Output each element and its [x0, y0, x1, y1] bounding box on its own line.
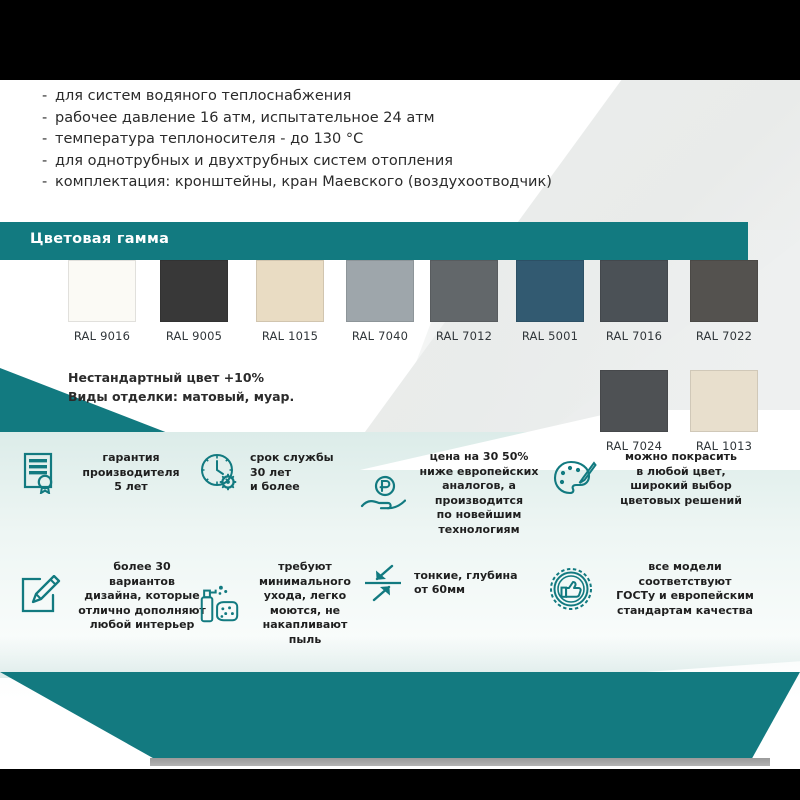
color-swatch-chip[interactable] [690, 260, 758, 322]
spec-item: - рабочее давление 16 атм, испытательное… [42, 108, 552, 130]
benefits-row-2: более 30вариантовдизайна, которыеотлично… [0, 560, 800, 670]
benefit-text-line: соответствуют [602, 575, 768, 590]
benefit-text: все моделисоответствуютГОСТу и европейск… [602, 560, 768, 618]
spec-item-text: рабочее давление 16 атм, испытательное 2… [55, 108, 435, 130]
section-header-colors: Цветовая гамма [0, 222, 748, 260]
benefit-item: цена на 30 50%ниже европейскиханалогов, … [360, 450, 544, 537]
benefit-text-line: более 30 [72, 560, 212, 575]
benefit-text-line: тонкие, глубина [414, 569, 534, 584]
color-swatch-chip[interactable] [68, 260, 136, 322]
bullet-dash: - [42, 151, 55, 173]
benefit-text-line: в любой цвет, [606, 465, 756, 480]
color-swatch-chip[interactable] [600, 260, 668, 322]
color-swatch-chip[interactable] [516, 260, 584, 322]
color-swatch[interactable]: RAL 7040 [346, 260, 414, 343]
benefit-text-line: гарантия [72, 451, 190, 466]
benefit-text-line: отлично дополняют [72, 604, 212, 619]
benefit-text-line: накапливают [250, 618, 360, 633]
benefit-item: требуютминимальногоухода, легкомоются, н… [196, 560, 360, 647]
poster-canvas: - для систем водяного теплоснабжения - р… [0, 0, 800, 800]
color-swatch-label: RAL 9016 [68, 329, 136, 343]
benefits-row-1: гарантияпроизводителя5 летсрок службы30 … [0, 450, 800, 560]
benefit-text-line: минимального [250, 575, 360, 590]
spec-item-text: для однотрубных и двухтрубных систем ото… [55, 151, 453, 173]
color-note-line1: Нестандартный цвет +10% [68, 368, 294, 387]
color-swatch[interactable]: RAL 7012 [430, 260, 498, 343]
color-swatch-chip[interactable] [430, 260, 498, 322]
decor-band-bottom [0, 672, 800, 762]
benefit-text: более 30вариантовдизайна, которыеотлично… [72, 560, 212, 633]
palette-icon [552, 456, 598, 502]
bullet-dash: - [42, 172, 55, 194]
spray-sponge-icon [196, 581, 242, 627]
spec-item: - для однотрубных и двухтрубных систем о… [42, 151, 552, 173]
benefit-text-line: производителя [72, 466, 190, 481]
benefit-text: цена на 30 50%ниже европейскиханалогов, … [414, 450, 544, 537]
color-swatch-chip[interactable] [256, 260, 324, 322]
color-swatch[interactable]: RAL 9016 [68, 260, 136, 343]
benefit-item: тонкие, глубинаот 60мм [360, 560, 534, 606]
benefit-text-line: все модели [602, 560, 768, 575]
spec-item-text: для систем водяного теплоснабжения [55, 86, 351, 108]
bullet-dash: - [42, 129, 55, 151]
color-swatch-chip[interactable] [690, 370, 758, 432]
bullet-dash: - [42, 108, 55, 130]
benefit-text-line: требуют [250, 560, 360, 575]
benefit-text-line: пыль [250, 633, 360, 648]
color-swatch-chip[interactable] [346, 260, 414, 322]
benefit-text: тонкие, глубинаот 60мм [414, 569, 534, 598]
color-swatch[interactable]: RAL 5001 [516, 260, 584, 343]
thin-depth-icon [360, 560, 406, 606]
section-title: Цветовая гамма [30, 231, 169, 247]
color-swatch[interactable]: RAL 9005 [160, 260, 228, 343]
spec-list: - для систем водяного теплоснабжения - р… [42, 86, 552, 194]
spec-item: - температура теплоносителя - до 130 °C [42, 129, 552, 151]
benefit-text-line: широкий выбор [606, 479, 756, 494]
benefit-text: гарантияпроизводителя5 лет [72, 451, 190, 495]
letterbox-bottom [0, 769, 800, 800]
color-swatch[interactable]: RAL 1015 [256, 260, 324, 343]
certificate-icon [18, 450, 64, 496]
color-swatch-label: RAL 7040 [346, 329, 414, 343]
benefit-item: более 30вариантовдизайна, которыеотлично… [18, 560, 212, 633]
color-swatch-chip[interactable] [600, 370, 668, 432]
benefit-text-line: срок службы [250, 451, 346, 466]
spec-item-text: температура теплоносителя - до 130 °C [55, 129, 363, 151]
benefit-text-line: моются, не [250, 604, 360, 619]
color-swatch-label: RAL 5001 [516, 329, 584, 343]
benefit-text-line: 5 лет [72, 480, 190, 495]
benefit-item: гарантияпроизводителя5 лет [18, 450, 190, 496]
spec-item: - для систем водяного теплоснабжения [42, 86, 552, 108]
clock-gear-icon [196, 450, 242, 496]
benefit-text-line: аналогов, а [414, 479, 544, 494]
benefit-text-line: цена на 30 50% [414, 450, 544, 465]
color-note: Нестандартный цвет +10% Виды отделки: ма… [68, 368, 294, 406]
color-swatch-label: RAL 7012 [430, 329, 498, 343]
color-swatch-chip[interactable] [160, 260, 228, 322]
benefit-item: срок службы30 лети более [196, 450, 346, 496]
letterbox-top [0, 0, 800, 80]
color-swatch-label: RAL 1015 [256, 329, 324, 343]
benefit-item: можно покраситьв любой цвет,широкий выбо… [552, 450, 756, 508]
spec-item-text: комплектация: кронштейны, кран Маевского… [55, 172, 552, 194]
benefit-text-line: дизайна, которые [72, 589, 212, 604]
benefit-text-line: ниже европейских [414, 465, 544, 480]
color-swatch[interactable]: RAL 7022 [690, 260, 758, 343]
benefit-text-line: можно покрасить [606, 450, 756, 465]
color-note-line2: Виды отделки: матовый, муар. [68, 387, 294, 406]
hand-ruble-icon [360, 471, 406, 517]
color-swatch-row-1: RAL 9016RAL 9005RAL 1015RAL 7040RAL 7012… [0, 260, 800, 350]
color-swatch-label: RAL 7022 [690, 329, 758, 343]
poster-body: - для систем водяного теплоснабжения - р… [0, 80, 800, 769]
pencil-note-icon [18, 573, 64, 619]
benefit-text-line: вариантов [72, 575, 212, 590]
benefit-text: срок службы30 лети более [250, 451, 346, 495]
bullet-dash: - [42, 86, 55, 108]
benefit-text-line: по новейшим [414, 508, 544, 523]
benefit-text-line: любой интерьер [72, 618, 212, 633]
benefit-text-line: 30 лет [250, 466, 346, 481]
decor-band-shadow [150, 758, 770, 766]
benefits-section: гарантияпроизводителя5 летсрок службы30 … [0, 450, 800, 670]
benefit-text-line: ухода, легко [250, 589, 360, 604]
spec-item: - комплектация: кронштейны, кран Маевско… [42, 172, 552, 194]
benefit-text-line: технологиям [414, 523, 544, 538]
benefit-text: требуютминимальногоухода, легкомоются, н… [250, 560, 360, 647]
benefit-text-line: ГОСТу и европейским [602, 589, 768, 604]
color-swatch[interactable]: RAL 7016 [600, 260, 668, 343]
color-swatch[interactable]: RAL 7024 [600, 370, 668, 453]
benefit-text-line: производится [414, 494, 544, 509]
quality-badge-icon [548, 566, 594, 612]
benefit-item: все моделисоответствуютГОСТу и европейск… [548, 560, 768, 618]
benefit-text-line: цветовых решений [606, 494, 756, 509]
benefit-text-line: и более [250, 480, 346, 495]
benefit-text-line: от 60мм [414, 583, 534, 598]
benefit-text: можно покраситьв любой цвет,широкий выбо… [606, 450, 756, 508]
color-swatch-label: RAL 7016 [600, 329, 668, 343]
color-swatch[interactable]: RAL 1013 [690, 370, 758, 453]
color-swatch-label: RAL 9005 [160, 329, 228, 343]
benefit-text-line: стандартам качества [602, 604, 768, 619]
